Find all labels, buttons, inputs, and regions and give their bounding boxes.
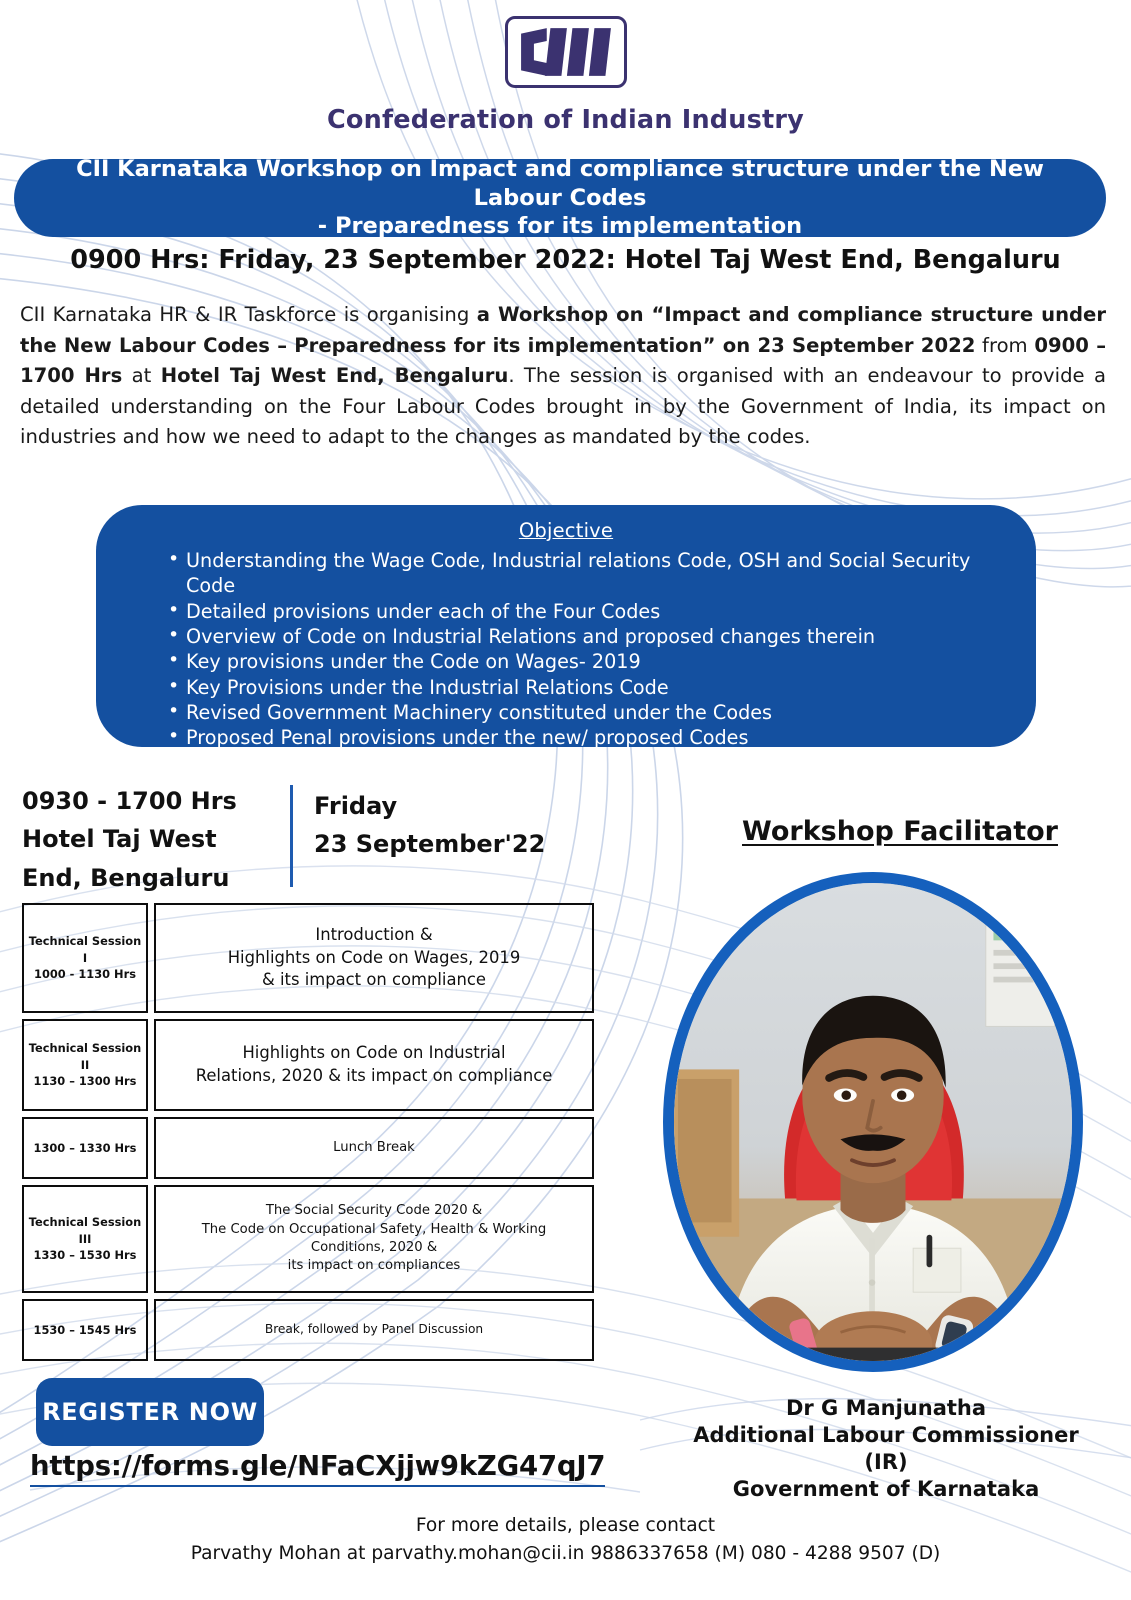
session-time-cell: 1530 – 1545 Hrs: [22, 1299, 148, 1361]
session-time: 1300 – 1330 Hrs: [34, 1140, 137, 1157]
objective-item: Understanding the Wage Code, Industrial …: [168, 548, 1010, 599]
schedule-venue: Hotel Taj West End, Bengaluru: [22, 820, 282, 897]
session-desc-cell: Introduction & Highlights on Code on Wag…: [154, 903, 594, 1013]
title-banner: CII Karnataka Workshop on Impact and com…: [14, 159, 1106, 237]
objective-item: Revised Government Machinery constituted…: [168, 700, 1010, 725]
title-line-2: - Preparedness for its implementation: [48, 212, 1072, 241]
objective-item: Key Provisions under the Industrial Rela…: [168, 675, 1010, 700]
event-subtitle: 0900 Hrs: Friday, 23 September 2022: Hot…: [0, 245, 1131, 275]
session-desc-line: Relations, 2020 & its impact on complian…: [196, 1065, 553, 1088]
session-number: II: [81, 1057, 89, 1074]
objective-list: Understanding the Wage Code, Industrial …: [122, 548, 1010, 751]
session-number: III: [79, 1231, 92, 1248]
schedule-date: 23 September'22: [314, 826, 614, 864]
footer-line-2: Parvathy Mohan at parvathy.mohan@cii.in …: [0, 1540, 1131, 1568]
table-row: 1530 – 1545 Hrs Break, followed by Panel…: [22, 1299, 594, 1361]
schedule-header-right: Friday 23 September'22: [314, 788, 614, 864]
schedule-time-range: 0930 - 1700 Hrs: [22, 782, 282, 820]
session-label: Technical Session: [29, 933, 142, 950]
session-desc-cell: Highlights on Code on Industrial Relatio…: [154, 1019, 594, 1111]
session-desc-line: & its impact on compliance: [262, 969, 486, 992]
facilitator-designation-1: Additional Labour Commissioner: [676, 1422, 1096, 1449]
schedule-header: 0930 - 1700 Hrs Hotel Taj West End, Beng…: [22, 782, 622, 892]
objective-item: Proposed Penal provisions under the new/…: [168, 725, 1010, 750]
session-desc-line: Break, followed by Panel Discussion: [265, 1321, 483, 1338]
session-time: 1330 – 1530 Hrs: [34, 1247, 137, 1264]
schedule-table: Technical Session I 1000 - 1130 Hrs Intr…: [22, 903, 594, 1367]
objective-item: Key provisions under the Code on Wages- …: [168, 649, 1010, 674]
facilitator-avatar: [663, 872, 1083, 1372]
session-time-cell: Technical Session III 1330 – 1530 Hrs: [22, 1185, 148, 1293]
schedule-day: Friday: [314, 788, 614, 826]
session-time-cell: Technical Session II 1130 – 1300 Hrs: [22, 1019, 148, 1111]
objective-item: Overview of Code on Industrial Relations…: [168, 624, 1010, 649]
table-row: 1300 – 1330 Hrs Lunch Break: [22, 1117, 594, 1179]
footer-line-1: For more details, please contact: [0, 1512, 1131, 1540]
session-desc-cell: The Social Security Code 2020 & The Code…: [154, 1185, 594, 1293]
title-line-1: CII Karnataka Workshop on Impact and com…: [48, 155, 1072, 213]
facilitator-designation-2: (IR): [676, 1449, 1096, 1476]
session-desc-line: The Code on Occupational Safety, Health …: [202, 1221, 547, 1239]
table-row: Technical Session II 1130 – 1300 Hrs Hig…: [22, 1019, 594, 1111]
session-desc-line: its impact on compliances: [288, 1257, 461, 1275]
session-number: I: [83, 950, 87, 967]
footer-contact: For more details, please contact Parvath…: [0, 1512, 1131, 1568]
session-time: 1130 – 1300 Hrs: [34, 1073, 137, 1090]
intro-paragraph: CII Karnataka HR & IR Taskforce is organ…: [20, 300, 1106, 453]
schedule-header-left: 0930 - 1700 Hrs Hotel Taj West End, Beng…: [22, 782, 282, 897]
objective-title: Objective: [122, 519, 1010, 542]
intro-text-3: at: [122, 364, 160, 387]
table-row: Technical Session I 1000 - 1130 Hrs Intr…: [22, 903, 594, 1013]
intro-bold-3: Hotel Taj West End, Bengaluru: [161, 364, 509, 387]
objective-box: Objective Understanding the Wage Code, I…: [96, 505, 1036, 747]
session-time-cell: 1300 – 1330 Hrs: [22, 1117, 148, 1179]
intro-text-2: from: [975, 334, 1034, 357]
facilitator-name: Dr G Manjunatha: [676, 1395, 1096, 1422]
register-now-button[interactable]: REGISTER NOW: [36, 1378, 264, 1446]
session-desc-line: Highlights on Code on Wages, 2019: [228, 947, 521, 970]
table-row: Technical Session III 1330 – 1530 Hrs Th…: [22, 1185, 594, 1293]
facilitator-designation-3: Government of Karnataka: [676, 1476, 1096, 1503]
cii-logo-block: Confederation of Indian Industry: [0, 16, 1131, 135]
session-desc-cell: Break, followed by Panel Discussion: [154, 1299, 594, 1361]
workshop-facilitator-heading: Workshop Facilitator: [700, 816, 1100, 847]
session-label: Technical Session: [29, 1214, 142, 1231]
cii-logo-icon: [505, 16, 627, 88]
session-time: 1530 – 1545 Hrs: [34, 1322, 137, 1339]
facilitator-photo: [674, 883, 1072, 1361]
objective-item: Detailed provisions under each of the Fo…: [168, 599, 1010, 624]
cii-logo-caption: Confederation of Indian Industry: [0, 105, 1131, 135]
session-time-cell: Technical Session I 1000 - 1130 Hrs: [22, 903, 148, 1013]
registration-url-link[interactable]: https://forms.gle/NFaCXjjw9kZG47qJ7: [30, 1450, 605, 1487]
facilitator-details: Dr G Manjunatha Additional Labour Commis…: [676, 1395, 1096, 1503]
session-time: 1000 - 1130 Hrs: [34, 966, 136, 983]
session-desc-line: Highlights on Code on Industrial: [242, 1042, 505, 1065]
poster-page: Confederation of Indian Industry CII Kar…: [0, 0, 1131, 1600]
session-desc-line: Lunch Break: [333, 1139, 415, 1157]
session-desc-cell: Lunch Break: [154, 1117, 594, 1179]
schedule-header-divider: [290, 785, 293, 887]
session-desc-line: The Social Security Code 2020 &: [266, 1202, 482, 1220]
intro-text-1: CII Karnataka HR & IR Taskforce is organ…: [20, 303, 477, 326]
session-desc-line: Introduction &: [315, 924, 432, 947]
session-desc-line: Conditions, 2020 &: [311, 1239, 437, 1257]
session-label: Technical Session: [29, 1040, 142, 1057]
